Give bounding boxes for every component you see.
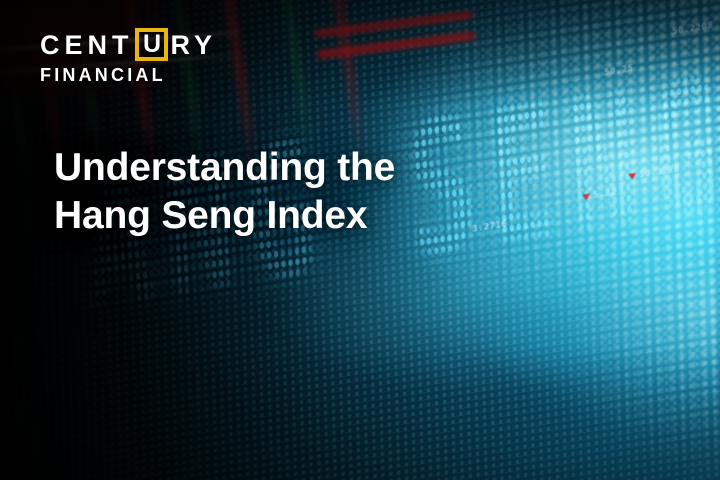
headline-line-2: Hang Seng Index bbox=[54, 192, 395, 240]
article-hero-banner: ANG SENG 5.32 50.3278 50.2208 3.2716 50.… bbox=[0, 0, 720, 480]
banner-content: CENT U RY FINANCIAL Understanding the Ha… bbox=[0, 0, 720, 480]
logo-text-ry: RY bbox=[171, 32, 218, 59]
page-title: Understanding the Hang Seng Index bbox=[54, 144, 395, 239]
logo-wordmark: CENT U RY bbox=[40, 29, 217, 62]
logo-tagline: FINANCIAL bbox=[40, 66, 217, 84]
logo-u-box: U bbox=[135, 28, 168, 61]
century-financial-logo[interactable]: CENT U RY FINANCIAL bbox=[40, 29, 217, 84]
logo-text-cent: CENT bbox=[40, 32, 134, 59]
logo-letter-u: U bbox=[143, 32, 161, 57]
headline-line-1: Understanding the bbox=[54, 144, 395, 192]
